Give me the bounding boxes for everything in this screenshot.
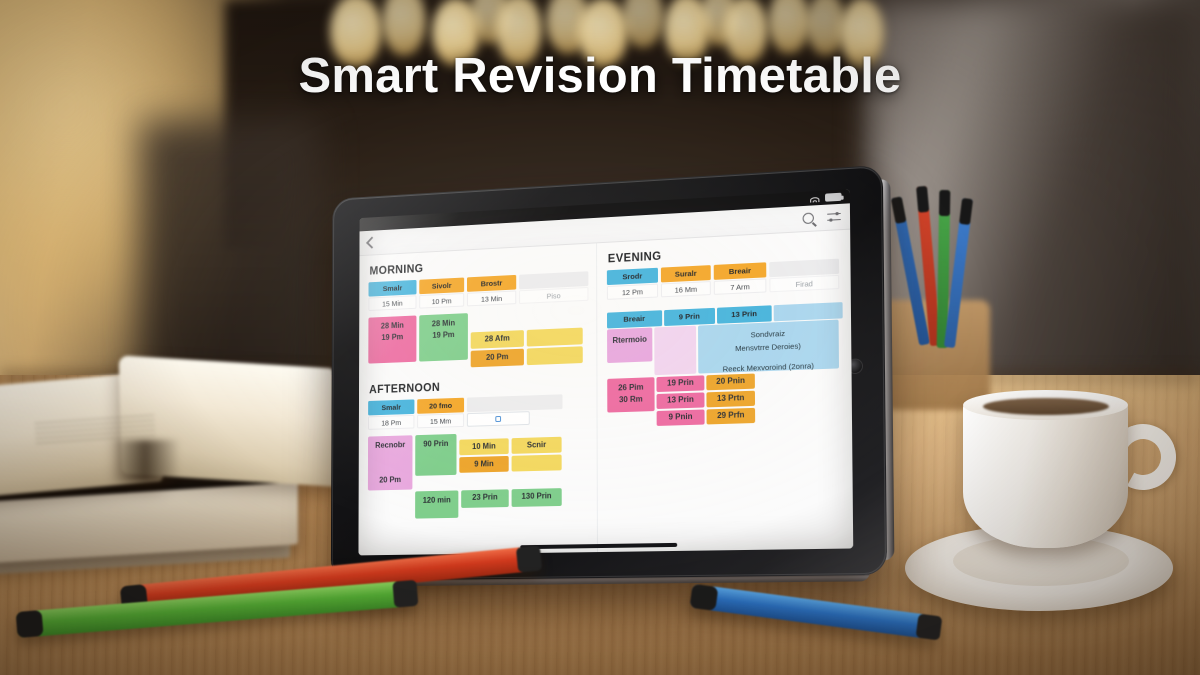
duration-cell: 12 Pm	[607, 284, 658, 300]
section-morning: MORNING Smalr Sivolr Brostr 15 Min 10 Pm…	[368, 255, 588, 372]
study-block[interactable]: 90 Prin	[415, 434, 456, 476]
study-block[interactable]: Rtermoio	[607, 328, 652, 364]
pen-cap	[939, 190, 950, 216]
toggle-input[interactable]	[467, 411, 530, 427]
study-block[interactable]: 9 Min	[459, 456, 508, 473]
tablet-screen[interactable]: MORNING Smalr Sivolr Brostr 15 Min 10 Pm…	[358, 189, 853, 555]
evening-panel-row: Rtermoio Sondvraiz Mensvtrre Deroies) Re…	[607, 319, 843, 377]
coffee-liquid	[983, 398, 1109, 415]
bar-segment[interactable]: 9 Prin	[664, 308, 716, 326]
afternoon-sub-stack: 10 Min 9 Min	[459, 438, 508, 473]
timetable-left-column: MORNING Smalr Sivolr Brostr 15 Min 10 Pm…	[358, 243, 597, 555]
afternoon-block-row: Recnobr 20 Pm 90 Prin 10 Min 9 Min Scnir	[368, 430, 589, 491]
chip-break[interactable]: Brostr	[467, 275, 516, 292]
bar-segment[interactable]	[773, 302, 842, 321]
study-block[interactable]	[512, 455, 562, 472]
marker-cap	[690, 584, 719, 611]
study-block[interactable]	[527, 346, 583, 365]
bar-segment[interactable]: Breair	[607, 310, 662, 328]
study-block[interactable]: 9 Pnin	[657, 409, 705, 426]
timetable-content: MORNING Smalr Sivolr Brostr 15 Min 10 Pm…	[358, 230, 853, 556]
note-panel[interactable]: Sondvraiz Mensvtrre Deroies) Reeck Mexvo…	[698, 320, 839, 374]
search-icon[interactable]	[803, 212, 814, 224]
section-title-afternoon: AFTERNOON	[369, 377, 589, 397]
chip-subject[interactable]: 20 fmo	[417, 398, 464, 414]
duration-cell: 15 Mm	[417, 413, 464, 428]
study-block[interactable]: Recnobr 20 Pm	[368, 435, 413, 490]
marker-tip	[916, 614, 943, 641]
evening-grid-col-orange: 20 Pnin 13 Prtn 29 Prfn	[706, 374, 755, 425]
tablet-device: MORNING Smalr Sivolr Brostr 15 Min 10 Pm…	[331, 165, 887, 581]
evening-grid-row: 26 Pim 30 Rm 19 Prin 13 Prin 9 Pnin 20 P…	[607, 370, 843, 427]
afternoon-block-row-2: 120 min 23 Prin 130 Prin	[368, 488, 589, 520]
coffee-cup	[963, 398, 1128, 548]
duration-cell: Firad	[769, 275, 839, 292]
chip-empty[interactable]	[467, 394, 563, 412]
study-block[interactable]: 19 Prin	[656, 375, 704, 392]
study-block[interactable]: 20 Pm	[471, 349, 524, 368]
marker-cap	[16, 610, 44, 638]
pen-cap	[916, 186, 929, 213]
chip-subject[interactable]: Smalr	[368, 399, 414, 415]
morning-block-row: 28 Min 19 Pm 28 Min 19 Pm 28 Afm 20 Pm	[368, 308, 588, 372]
study-block[interactable]	[527, 328, 583, 347]
duration-cell: 13 Min	[467, 290, 516, 306]
morning-sub-stack-2	[527, 328, 583, 366]
section-evening: EVENING Srodr Suralr Breair 12 Pm 16 Mm …	[607, 241, 844, 427]
study-block[interactable]: 26 Pim 30 Rm	[607, 377, 654, 412]
duration-cell: 7 Arm	[714, 278, 767, 295]
bar-segment[interactable]: 13 Prin	[717, 305, 771, 323]
checkbox-icon	[495, 416, 501, 422]
chip-subject[interactable]: Srodr	[607, 268, 658, 285]
study-block[interactable]: 28 Afm	[471, 330, 524, 349]
study-block[interactable]: Scnir	[512, 437, 562, 454]
sliders-icon[interactable]	[827, 210, 841, 223]
poster-scene: Smart Revision Timetable	[0, 0, 1200, 675]
duration-cell: 18 Pm	[368, 415, 414, 430]
page-title: Smart Revision Timetable	[299, 48, 902, 104]
block-line: 30 Rm	[610, 393, 651, 406]
study-block[interactable]: 130 Prin	[512, 488, 562, 507]
study-block[interactable]: 13 Prin	[657, 392, 705, 409]
study-block[interactable]: 28 Min 19 Pm	[419, 313, 468, 361]
marker-tip	[516, 545, 542, 572]
poster-title-wrap: Smart Revision Timetable	[0, 48, 1200, 104]
study-block[interactable]: 10 Min	[459, 438, 508, 455]
chevron-left-icon[interactable]	[366, 237, 378, 249]
battery-icon	[825, 193, 842, 202]
chip-subject[interactable]: Suralr	[661, 265, 711, 282]
study-block[interactable]: 28 Min 19 Pm	[368, 315, 416, 363]
timetable-right-column: EVENING Srodr Suralr Breair 12 Pm 16 Mm …	[597, 230, 853, 552]
study-block[interactable]: 29 Prfn	[707, 408, 756, 425]
chip-subject[interactable]: Sivolr	[419, 278, 464, 295]
evening-grid-col-pink: 19 Prin 13 Prin 9 Pnin	[656, 375, 704, 426]
duration-cell: 16 Mm	[661, 281, 711, 297]
duration-cell: Piso	[519, 287, 588, 304]
block-line: Recnobr	[371, 439, 410, 451]
chip-subject[interactable]: Smalr	[368, 280, 416, 297]
toolbar-actions	[803, 210, 841, 224]
morning-sub-stack: 28 Afm 20 Pm	[471, 330, 524, 367]
study-block[interactable]: 20 Pnin	[706, 374, 755, 391]
study-block[interactable]: 23 Prin	[461, 489, 509, 508]
block-line: 20 Pm	[371, 474, 410, 486]
marker-tip	[392, 580, 418, 608]
duration-cell: 10 Pm	[419, 293, 464, 309]
study-block[interactable]: 13 Prtn	[706, 391, 755, 408]
study-block[interactable]	[654, 326, 696, 376]
wifi-icon	[810, 194, 820, 203]
chip-break[interactable]: Breair	[714, 262, 767, 280]
book-stack	[0, 300, 310, 560]
study-block[interactable]: 120 min	[415, 490, 458, 518]
duration-cell: 15 Min	[368, 295, 416, 311]
section-afternoon: AFTERNOON Smalr 20 fmo 18 Pm 15 Mm	[368, 377, 589, 520]
block-line: 19 Pm	[371, 331, 414, 344]
open-book-spine	[110, 440, 180, 482]
afternoon-sub-stack-2: Scnir	[512, 437, 562, 472]
block-line: 19 Pm	[422, 328, 465, 341]
